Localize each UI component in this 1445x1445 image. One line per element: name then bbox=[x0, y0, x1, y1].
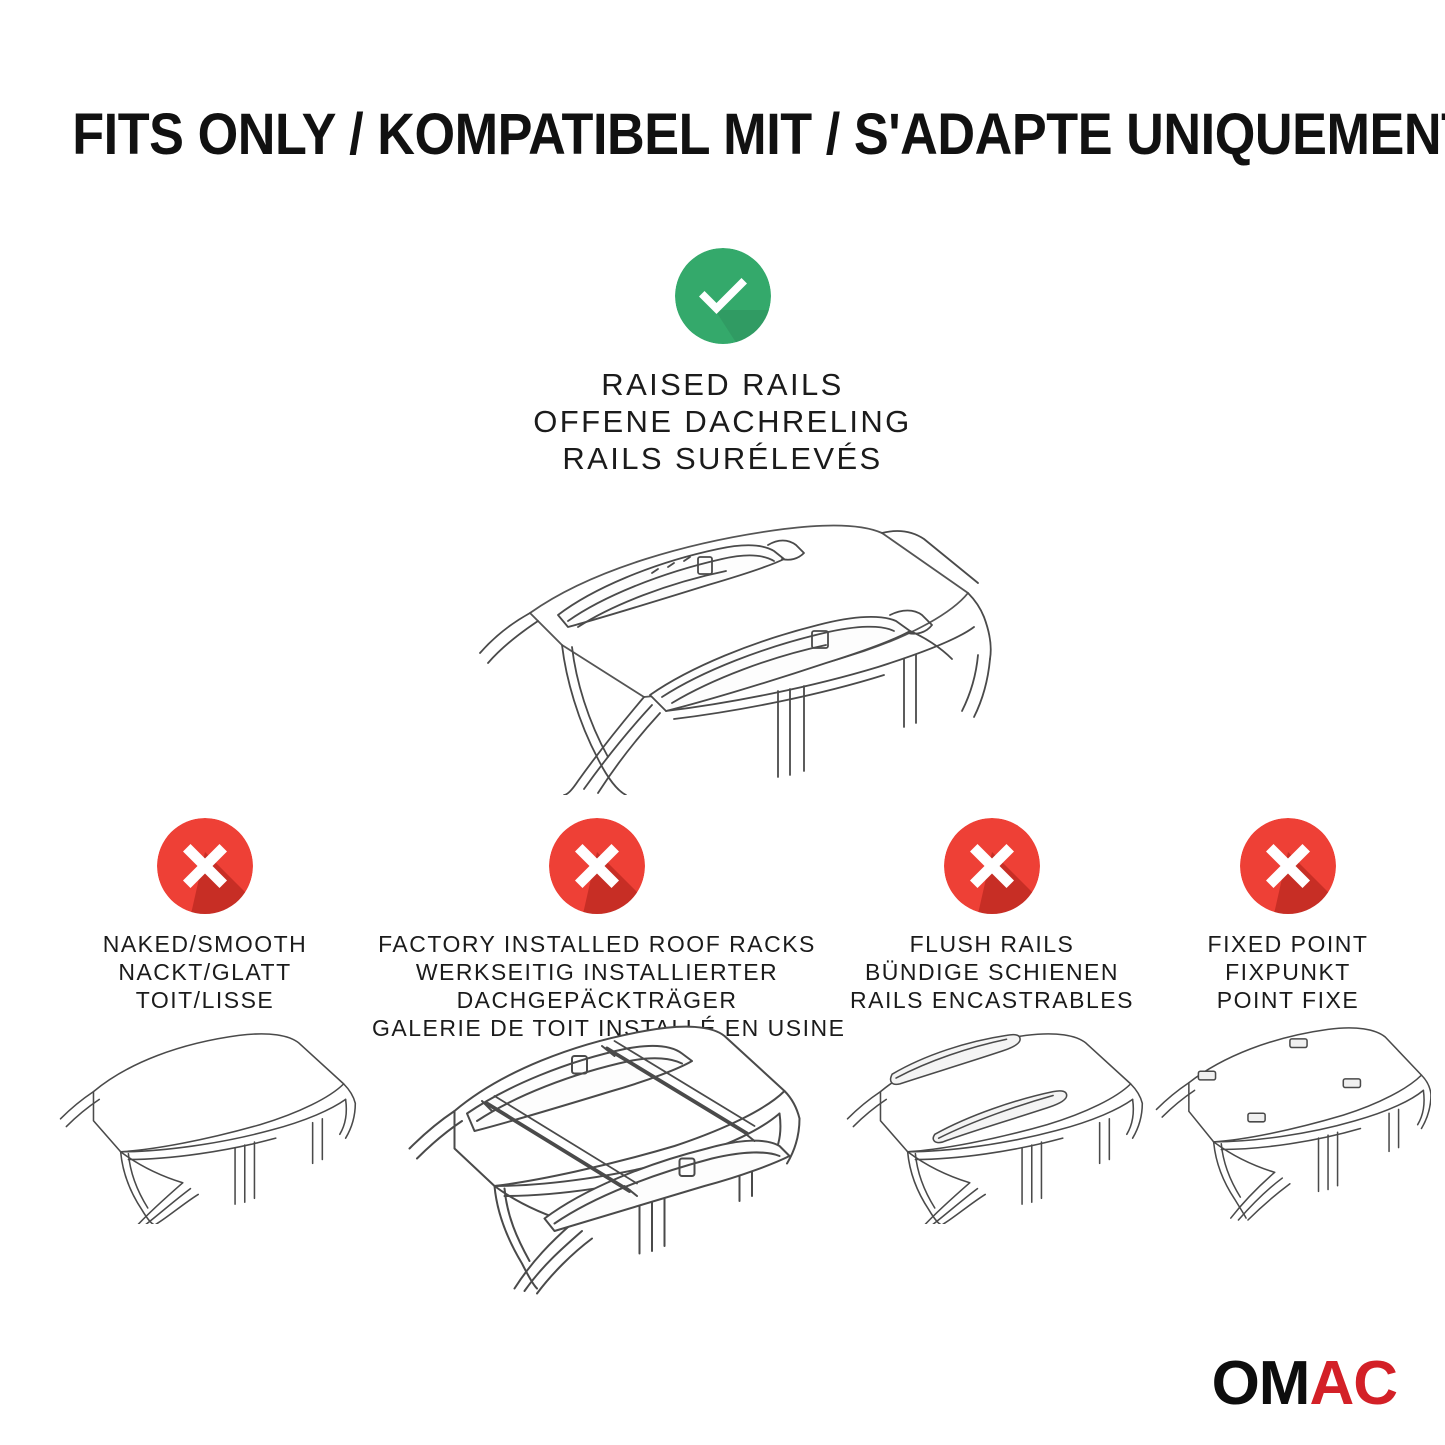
compatible-label-line-2: OFFENE DACHRELING bbox=[0, 403, 1445, 440]
incompatible-item-naked-smooth: NAKED/SMOOTH NACKT/GLATT TOIT/LISSE bbox=[45, 818, 365, 1014]
incompatible-item-factory-roof-racks: FACTORY INSTALLED ROOF RACKS WERKSEITIG … bbox=[372, 818, 822, 1042]
car-roof-with-factory-crossbars-illustration bbox=[372, 996, 822, 1296]
cross-circle-icon bbox=[1240, 818, 1336, 914]
cross-circle-icon bbox=[157, 818, 253, 914]
incompatible-label-line-3: TOIT/LISSE bbox=[45, 986, 365, 1014]
incompatible-label-line-1: NAKED/SMOOTH bbox=[45, 930, 365, 958]
car-roof-with-raised-rails-illustration bbox=[412, 495, 1052, 795]
compatible-label: RAISED RAILS OFFENE DACHRELING RAILS SUR… bbox=[0, 366, 1445, 477]
incompatible-label-line-2: BÜNDIGE SCHIENEN bbox=[832, 958, 1152, 986]
incompatible-label-line-1: FACTORY INSTALLED ROOF RACKS bbox=[372, 930, 822, 958]
logo-text-ac: AC bbox=[1309, 1349, 1397, 1418]
incompatible-label-line-2: NACKT/GLATT bbox=[45, 958, 365, 986]
compatible-label-line-3: RAILS SURÉLEVÉS bbox=[0, 440, 1445, 477]
incompatible-label-line-2: FIXPUNKT bbox=[1145, 958, 1431, 986]
logo-text-om: OM bbox=[1212, 1349, 1310, 1418]
incompatible-label-line-1: FIXED POINT bbox=[1145, 930, 1431, 958]
incompatible-item-flush-rails: FLUSH RAILS BÜNDIGE SCHIENEN RAILS ENCAS… bbox=[832, 818, 1152, 1014]
cross-circle-icon bbox=[944, 818, 1040, 914]
incompatible-label-line-3: POINT FIXE bbox=[1145, 986, 1431, 1014]
incompatible-label-line-2: WERKSEITIG INSTALLIERTER bbox=[372, 958, 822, 986]
cross-circle-icon bbox=[549, 818, 645, 914]
car-roof-naked-smooth-illustration bbox=[45, 1016, 365, 1224]
compatible-section: RAISED RAILS OFFENE DACHRELING RAILS SUR… bbox=[0, 248, 1445, 477]
incompatible-section: NAKED/SMOOTH NACKT/GLATT TOIT/LISSE bbox=[0, 818, 1445, 1238]
omac-logo: OMAC bbox=[1212, 1353, 1397, 1415]
check-circle-icon bbox=[675, 248, 771, 344]
page-title: FITS ONLY / KOMPATIBEL MIT / S'ADAPTE UN… bbox=[72, 103, 1373, 167]
incompatible-item-fixed-point: FIXED POINT FIXPUNKT POINT FIXE bbox=[1145, 818, 1431, 1014]
incompatible-label: NAKED/SMOOTH NACKT/GLATT TOIT/LISSE bbox=[45, 930, 365, 1014]
incompatible-label: FIXED POINT FIXPUNKT POINT FIXE bbox=[1145, 930, 1431, 1014]
car-roof-with-fixed-points-illustration bbox=[1145, 1016, 1431, 1221]
incompatible-label: FLUSH RAILS BÜNDIGE SCHIENEN RAILS ENCAS… bbox=[832, 930, 1152, 1014]
car-roof-with-flush-rails-illustration bbox=[832, 1016, 1152, 1224]
incompatible-label-line-1: FLUSH RAILS bbox=[832, 930, 1152, 958]
incompatible-label-line-3: RAILS ENCASTRABLES bbox=[832, 986, 1152, 1014]
compatible-label-line-1: RAISED RAILS bbox=[0, 366, 1445, 403]
